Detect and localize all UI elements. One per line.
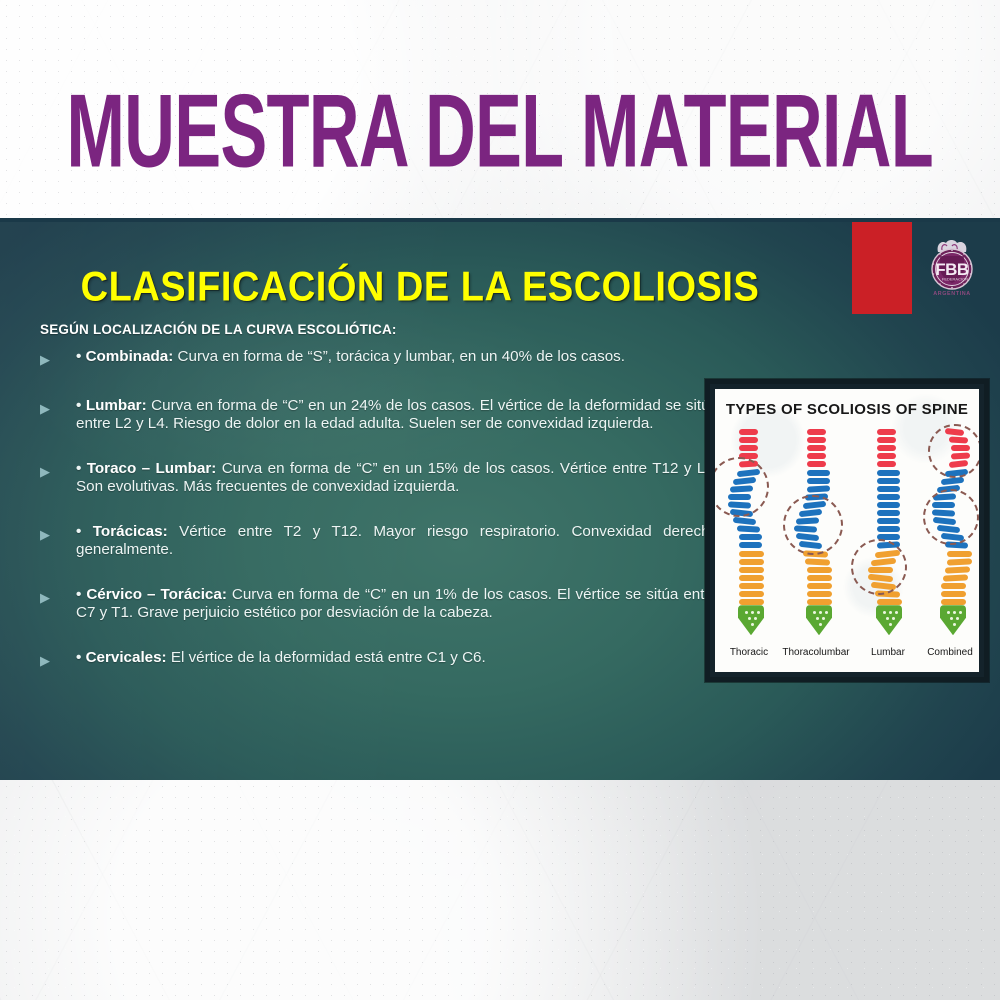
list-item-term: Torácicas:: [93, 523, 168, 540]
sacrum-foramen: [959, 611, 962, 614]
sacrum-foramen: [751, 623, 754, 626]
vertebra: [739, 575, 764, 581]
scoliosis-diagram-panel: TYPES OF SCOLIOSIS OF SPINE Thoracic Tho…: [705, 379, 989, 682]
vertebra: [739, 551, 764, 557]
headline-container: MUESTRA DEL MATERIAL: [0, 72, 1000, 190]
vertebra: [807, 485, 830, 492]
triangle-bullet-icon: ▶: [40, 353, 50, 366]
vertebra: [941, 591, 966, 597]
spine-label-lumbar: Lumbar: [859, 647, 917, 658]
sacrum: [738, 605, 764, 635]
inline-dot: •: [76, 523, 81, 540]
curve-highlight-circle: [783, 495, 843, 555]
triangle-bullet-icon: ▶: [40, 591, 50, 604]
list-item: ▶ • Lumbar: Curva en forma de “C” en un …: [38, 397, 718, 433]
vertebra: [877, 453, 896, 459]
list-item-body: Curva en forma de “C” en un 24% de los c…: [76, 397, 718, 432]
diagram-canvas: TYPES OF SCOLIOSIS OF SPINE Thoracic Tho…: [715, 389, 979, 672]
vertebra: [805, 558, 830, 565]
inline-dot: •: [76, 586, 81, 603]
inline-dot: •: [76, 397, 81, 414]
vertebra: [877, 437, 896, 443]
sacrum-foramen: [953, 611, 956, 614]
sacrum: [876, 605, 902, 635]
sacrum-foramen: [895, 611, 898, 614]
spine-thoracic: [719, 429, 787, 644]
section-label: SEGÚN LOCALIZACIÓN DE LA CURVA ESCOLIÓTI…: [40, 322, 397, 337]
list-item-text: • Torácicas: Vértice entre T2 y T12. May…: [76, 523, 718, 559]
list-item-text: • Cervicales: El vértice de la deformida…: [76, 649, 718, 667]
vertebra: [877, 486, 900, 492]
list-item-text: • Toraco – Lumbar: Curva en forma de “C”…: [76, 460, 718, 496]
red-accent-bar: [852, 222, 912, 314]
vertebra: [739, 583, 764, 589]
list-item-body: Vértice entre T2 y T12. Mayor riesgo res…: [76, 523, 718, 558]
vertebra: [877, 510, 900, 516]
vertebra: [877, 470, 900, 476]
sacrum-foramen: [892, 617, 895, 620]
sacrum: [940, 605, 966, 635]
vertebra: [947, 558, 972, 565]
sacrum-foramen: [816, 617, 819, 620]
sacrum-foramen: [745, 611, 748, 614]
list-item-text: • Lumbar: Curva en forma de “C” en un 24…: [76, 397, 718, 433]
vertebra: [877, 478, 900, 484]
curve-highlight-circle: [851, 539, 907, 595]
vertebra: [733, 517, 757, 526]
fbb-argentina-logo: FBB FEDERACION ARGENTINA: [924, 236, 980, 298]
vertebra: [739, 534, 762, 540]
vertebra: [947, 551, 972, 557]
vertebra: [877, 599, 902, 605]
vertebra: [877, 518, 900, 524]
sacrum-foramen: [950, 617, 953, 620]
vertebra: [807, 429, 826, 435]
list-item-text: • Combinada: Curva en forma de “S”, torá…: [76, 348, 718, 366]
sacrum-foramen: [757, 611, 760, 614]
list-item: ▶ • Combinada: Curva en forma de “S”, to…: [38, 348, 718, 370]
sacrum-foramen: [825, 611, 828, 614]
vertebra: [877, 526, 900, 532]
vertebra: [737, 526, 760, 533]
spine-label-combined: Combined: [915, 647, 979, 658]
sacrum-foramen: [819, 623, 822, 626]
list-item-term: Combinada:: [86, 348, 174, 365]
vertebra: [739, 542, 762, 548]
spine-lumbar: [857, 429, 925, 644]
vertebra: [877, 461, 896, 467]
vertebra: [941, 599, 966, 605]
list-item: ▶ • Torácicas: Vértice entre T2 y T12. M…: [38, 523, 718, 559]
slide-top-border: [0, 218, 1000, 222]
sacrum-foramen: [889, 623, 892, 626]
vertebra: [945, 566, 970, 573]
sacrum-foramen: [748, 617, 751, 620]
curve-highlight-circle: [928, 424, 979, 478]
vertebra: [877, 494, 900, 500]
sacrum-foramen: [956, 617, 959, 620]
vertebra: [739, 567, 764, 573]
vertebra: [807, 599, 832, 605]
vertebra: [807, 437, 826, 443]
spine-combined: [921, 429, 979, 644]
spine-thoracolumbar: [787, 429, 855, 644]
vertebra: [807, 445, 826, 451]
sacrum-foramen: [883, 611, 886, 614]
spine-label-thoracic: Thoracic: [717, 647, 781, 658]
sacrum-foramen: [947, 611, 950, 614]
vertebra: [807, 470, 830, 476]
triangle-bullet-icon: ▶: [40, 465, 50, 478]
sacrum-foramen: [953, 623, 956, 626]
page-root: MUESTRA DEL MATERIAL: [0, 0, 1000, 1000]
vertebra: [739, 437, 758, 443]
curve-highlight-circle: [923, 489, 979, 545]
vertebra: [807, 575, 832, 581]
vertebra: [943, 574, 968, 581]
vertebra: [807, 478, 830, 484]
presentation-slide: FBB FEDERACION ARGENTINA CLASIFICA: [0, 218, 1000, 780]
vertebra: [877, 429, 896, 435]
sacrum-foramen: [886, 617, 889, 620]
page-headline: MUESTRA DEL MATERIAL: [67, 79, 934, 183]
vertebra: [807, 583, 832, 589]
spine-label-thoracolumbar: Thoracolumbar: [773, 647, 859, 658]
triangle-bullet-icon: ▶: [40, 528, 50, 541]
vertebra: [941, 583, 966, 589]
triangle-bullet-icon: ▶: [40, 654, 50, 667]
spine-label-row: Thoracic Thoracolumbar Lumbar Combined: [715, 647, 979, 667]
list-item-term: Toraco – Lumbar:: [87, 460, 217, 477]
bullet-list: ▶ • Combinada: Curva en forma de “S”, to…: [38, 348, 718, 698]
vertebra: [877, 445, 896, 451]
vertebra: [739, 559, 764, 565]
list-item: ▶ • Cérvico – Torácica: Curva en forma d…: [38, 586, 718, 622]
list-item-body: Curva en forma de “S”, torácica y lumbar…: [173, 348, 625, 365]
svg-text:ARGENTINA: ARGENTINA: [933, 291, 970, 297]
svg-text:FEDERACION: FEDERACION: [942, 277, 968, 282]
inline-dot: •: [76, 460, 81, 477]
list-item: ▶ • Toraco – Lumbar: Curva en forma de “…: [38, 460, 718, 496]
sacrum-foramen: [822, 617, 825, 620]
list-item-term: Cervicales:: [86, 649, 167, 666]
vertebra: [807, 461, 826, 467]
slide-title: CLASIFICACIÓN DE LA ESCOLIOSIS: [0, 264, 840, 311]
vertebra: [739, 591, 764, 597]
list-item-body: El vértice de la deformidad está entre C…: [167, 649, 486, 666]
vertebra: [877, 502, 900, 508]
sacrum-foramen: [889, 611, 892, 614]
sacrum-foramen: [751, 611, 754, 614]
list-item-text: • Cérvico – Torácica: Curva en forma de …: [76, 586, 718, 622]
vertebra: [739, 445, 758, 451]
diagram-title: TYPES OF SCOLIOSIS OF SPINE: [715, 401, 979, 418]
vertebra: [807, 567, 832, 573]
sacrum: [806, 605, 832, 635]
sacrum-foramen: [754, 617, 757, 620]
sacrum-foramen: [819, 611, 822, 614]
triangle-bullet-icon: ▶: [40, 402, 50, 415]
vertebra: [739, 599, 764, 605]
spine-illustrations: [715, 429, 979, 644]
inline-dot: •: [76, 649, 81, 666]
list-item-term: Cérvico – Torácica:: [86, 586, 227, 603]
vertebra: [807, 591, 832, 597]
list-item-term: Lumbar:: [86, 397, 147, 414]
vertebra: [739, 429, 758, 435]
curve-highlight-circle: [715, 457, 769, 517]
inline-dot: •: [76, 348, 81, 365]
list-item: ▶ • Cervicales: El vértice de la deformi…: [38, 649, 718, 671]
sacrum-foramen: [813, 611, 816, 614]
vertebra: [807, 453, 826, 459]
